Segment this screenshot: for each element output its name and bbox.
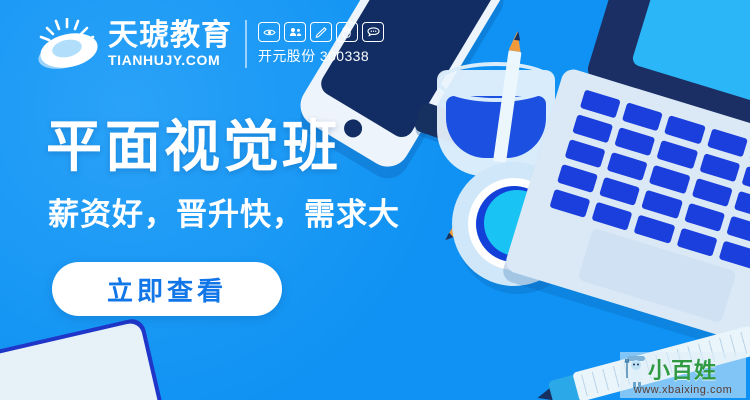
people-icon: [284, 22, 306, 42]
hand-glyph: [341, 27, 353, 38]
credential-block: 开元股份 300338: [258, 22, 384, 66]
brand-name-cn: 天琥教育: [108, 20, 232, 52]
stock-code-text: 开元股份 300338: [258, 46, 384, 66]
hand-icon: [336, 22, 358, 42]
speech-bubble-icon: [362, 22, 384, 42]
headline-text: 平面视觉班: [46, 119, 341, 175]
brand-logo[interactable]: 天琥教育 TIANHUJY.COM: [36, 18, 384, 70]
brand-name-block: 天琥教育 TIANHUJY.COM: [108, 20, 232, 68]
eye-glyph: [263, 28, 276, 37]
eye-icon: [258, 22, 280, 42]
phone-home-button: [341, 116, 366, 141]
people-glyph: [289, 27, 302, 37]
notebook-illustration: [0, 316, 169, 400]
speech-bubble-glyph: [367, 27, 380, 37]
service-icon-row: [258, 22, 384, 42]
site-watermark: 小百姓 www.xbaixing.com: [620, 352, 746, 398]
sun-ellipse-logo-icon: [36, 18, 100, 70]
watermark-site-name: 小百姓: [648, 353, 717, 385]
pencil-icon: [310, 22, 332, 42]
mascot-icon: [624, 354, 650, 388]
logo-divider: [245, 20, 247, 68]
advertisement-banner: 天琥教育 TIANHUJY.COM: [0, 0, 750, 400]
watermark-url: www.xbaixing.com: [634, 384, 732, 398]
brand-name-en: TIANHUJY.COM: [108, 53, 232, 68]
pencil-glyph: [315, 27, 327, 38]
view-now-button[interactable]: 立即查看: [52, 262, 282, 316]
white-pencil-lead: [514, 31, 521, 41]
pencil-cup-rim: [437, 62, 555, 102]
subheadline-text: 薪资好，晋升快，需求大: [48, 199, 400, 230]
